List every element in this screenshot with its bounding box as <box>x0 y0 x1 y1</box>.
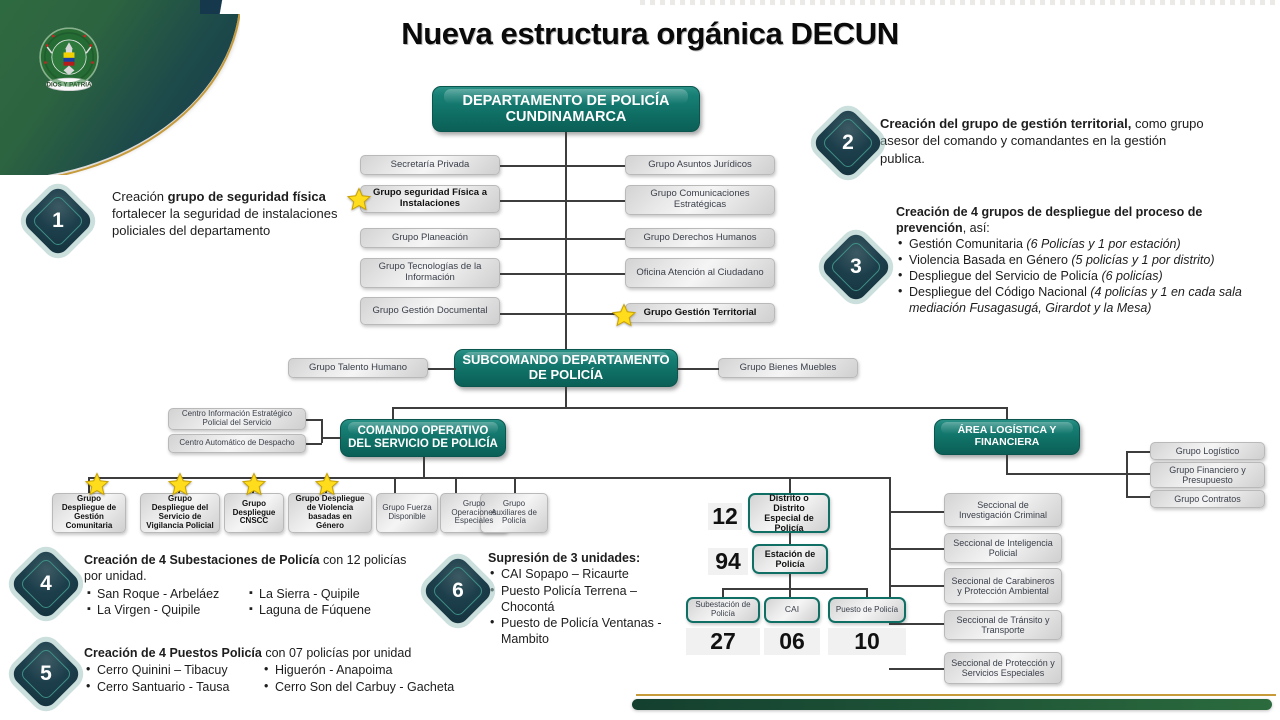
org-node-grupo-auxiliares-policia[interactable]: Grupo Auxiliares de Policía <box>480 493 548 533</box>
org-node-distrito-especial-policia[interactable]: Distrito o Distrito Especial de Policía <box>748 493 830 533</box>
org-node-oficina-atencion-ciudadano[interactable]: Oficina Atención al Ciudadano <box>625 258 775 288</box>
list-item: Cerro Quinini – Tibacuy <box>84 662 254 678</box>
connector-staff-1 <box>500 165 625 167</box>
top-dotted-rule <box>640 0 1280 5</box>
connector-estacion-down <box>789 574 791 589</box>
org-node-seccional-investigacion-criminal[interactable]: Seccional de Investigación Criminal <box>944 493 1062 527</box>
org-node-grupo-bienes-muebles[interactable]: Grupo Bienes Muebles <box>718 358 858 378</box>
header-corner-notch <box>200 0 260 14</box>
connector-distrito-estacion <box>789 533 791 544</box>
connector-subcomando-down <box>565 387 567 408</box>
connector-staff-5 <box>500 313 625 315</box>
count-estacion: 94 <box>708 548 748 575</box>
org-node-centro-informacion-estrategico[interactable]: Centro Información Estratégico Policial … <box>168 408 306 430</box>
star-icon-vigilancia-policial <box>167 472 193 497</box>
callout-text-3: Creación de 4 grupos de despliegue del p… <box>896 204 1262 316</box>
org-node-grupo-talento-humano[interactable]: Grupo Talento Humano <box>288 358 428 378</box>
callout-text-6: Supresión de 3 unidades: CAI Sopapo – Ri… <box>488 550 678 648</box>
connector-subcomando-right <box>677 368 719 370</box>
connector-seccional-2 <box>889 548 945 550</box>
callout-5-list-col2: Higuerón - Anapoima Cerro Son del Carbuy… <box>262 662 492 695</box>
org-node-grupo-despliegue-violencia-genero[interactable]: Grupo Despliegue de Violencia basadas en… <box>288 493 372 533</box>
callout-number-2: 2 <box>822 117 874 169</box>
org-node-grupo-asuntos-juridicos[interactable]: Grupo Asuntos Jurídicos <box>625 155 775 175</box>
connector-drop-distrito <box>789 477 791 493</box>
star-icon-gestion-territorial <box>611 303 637 328</box>
star-icon-cnscc <box>241 472 267 497</box>
connector-seccional-1 <box>889 511 945 513</box>
org-node-cai[interactable]: CAI <box>764 597 820 623</box>
callout-number-6: 6 <box>432 565 484 617</box>
org-node-area-logistica-financiera[interactable]: ÁREA LOGÍSTICA Y FINANCIERA <box>934 419 1080 455</box>
callout-5-list-col1: Cerro Quinini – Tibacuy Cerro Santuario … <box>84 662 254 695</box>
list-item: CAI Sopapo – Ricaurte <box>488 566 678 582</box>
connector-level3-bus <box>392 407 1007 409</box>
org-node-grupo-despliegue-vigilancia-policial[interactable]: Grupo Despliegue del Servicio de Vigilan… <box>140 493 220 533</box>
connector-centro-1 <box>306 419 322 421</box>
connector-seccional-4 <box>889 623 945 625</box>
connector-drop-seccionales <box>889 477 891 611</box>
connector-area-to-logistic <box>1006 473 1127 475</box>
connector-to-area-logistica <box>1006 407 1008 419</box>
star-icon-seguridad-fisica <box>346 187 372 212</box>
org-node-seccional-proteccion-servicios-especiales[interactable]: Seccional de Protección y Servicios Espe… <box>944 652 1062 684</box>
org-node-subcomando-departamento-policia[interactable]: SUBCOMANDO DEPARTAMENTO DE POLICÍA <box>454 349 678 387</box>
org-node-grupo-tecnologias-informacion[interactable]: Grupo Tecnologías de la Información <box>360 258 500 288</box>
callout-4-list-col2: La Sierra - Quipile Laguna de Fúquene <box>246 586 396 619</box>
connector-logistic-3 <box>1126 496 1151 498</box>
list-item: Puesto de Policía Ventanas - Mambito <box>488 615 678 648</box>
org-node-estacion-policia[interactable]: Estación de Policía <box>752 544 828 574</box>
callout-marker-1[interactable]: 1 <box>32 195 84 247</box>
org-node-seccional-transito-transporte[interactable]: Seccional de Tránsito y Transporte <box>944 610 1062 640</box>
connector-centro-2 <box>306 443 322 445</box>
connector-area-down <box>1006 455 1008 474</box>
callout-marker-5[interactable]: 5 <box>20 648 72 700</box>
list-item: Despliegue del Código Nacional (4 policí… <box>896 284 1262 316</box>
org-node-grupo-fuerza-disponible[interactable]: Grupo Fuerza Disponible <box>376 493 438 533</box>
org-node-grupo-logistico[interactable]: Grupo Logístico <box>1150 442 1265 460</box>
org-node-seccional-inteligencia-policial[interactable]: Seccional de Inteligencia Policial <box>944 533 1062 563</box>
policia-nacional-emblem-icon: DIOS Y PATRIA <box>30 22 108 100</box>
list-item: Puesto Policía Terrena – Chocontá <box>488 583 678 616</box>
org-node-grupo-seguridad-fisica[interactable]: Grupo seguridad Física a Instalaciones <box>360 185 500 213</box>
list-item: San Roque - Arbeláez <box>84 586 234 602</box>
callout-number-3: 3 <box>830 241 882 293</box>
list-item: La Virgen - Quipile <box>84 602 234 618</box>
connector-staff-4 <box>500 273 625 275</box>
slide-canvas: DIOS Y PATRIA Nueva estructura orgánica … <box>0 0 1280 720</box>
page-title: Nueva estructura orgánica DECUN <box>300 16 1000 52</box>
callout-marker-3[interactable]: 3 <box>830 241 882 293</box>
connector-operative-groups-bus <box>88 477 889 479</box>
count-subestacion: 27 <box>686 628 760 655</box>
connector-seccional-5 <box>889 668 945 670</box>
callout-text-5: Creación de 4 Puestos Policía con 07 pol… <box>84 645 504 695</box>
connector-centro-spine <box>321 419 323 443</box>
callout-text-4: Creación de 4 Subestaciones de Policía c… <box>84 552 424 618</box>
connector-centro-to-comando <box>321 437 341 439</box>
callout-text-1: Creación grupo de seguridad física forta… <box>112 188 340 239</box>
org-node-departamento-policia-cundinamarca[interactable]: DEPARTAMENTO DE POLICÍA CUNDINAMARCA <box>432 86 700 132</box>
org-node-puesto-policia[interactable]: Puesto de Policía <box>828 597 906 623</box>
bottom-gold-rule <box>636 694 1276 696</box>
list-item: Violencia Basada en Género (5 policías y… <box>896 252 1262 268</box>
count-cai: 06 <box>764 628 820 655</box>
callout-4-list-col1: San Roque - Arbeláez La Virgen - Quipile <box>84 586 234 619</box>
org-node-subestacion-policia[interactable]: Subestación de Policía <box>686 597 760 623</box>
list-item: Despliegue del Servicio de Policía (6 po… <box>896 268 1262 284</box>
org-node-grupo-financiero-presupuesto[interactable]: Grupo Financiero y Presupuesto <box>1150 462 1265 488</box>
bottom-green-bar <box>632 699 1272 710</box>
callout-text-2: Creación del grupo de gestión territoria… <box>880 115 1210 167</box>
org-node-secretaria-privada[interactable]: Secretaría Privada <box>360 155 500 175</box>
org-node-grupo-derechos-humanos[interactable]: Grupo Derechos Humanos <box>625 228 775 248</box>
count-distrito: 12 <box>708 503 742 530</box>
org-node-grupo-despliegue-gestion-comunitaria[interactable]: Grupo Despliegue de Gestión Comunitaria <box>52 493 126 533</box>
list-item: Cerro Santuario - Tausa <box>84 679 254 695</box>
list-item: Gestión Comunitaria (6 Policías y 1 por … <box>896 236 1262 252</box>
callout-marker-6[interactable]: 6 <box>432 565 484 617</box>
star-icon-gestion-comunitaria <box>84 472 110 497</box>
connector-units-bus <box>722 588 867 590</box>
org-node-seccional-carabineros-proteccion-ambiental[interactable]: Seccional de Carabineros y Protección Am… <box>944 568 1062 604</box>
org-node-centro-automatico-despacho[interactable]: Centro Automático de Despacho <box>168 434 306 453</box>
org-node-grupo-comunicaciones-estrategicas[interactable]: Grupo Comunicaciones Estratégicas <box>625 185 775 215</box>
connector-logistic-2 <box>1126 473 1151 475</box>
callout-marker-2[interactable]: 2 <box>822 117 874 169</box>
org-node-grupo-contratos[interactable]: Grupo Contratos <box>1150 490 1265 508</box>
connector-seccional-3 <box>889 585 945 587</box>
connector-comando-down <box>423 457 425 478</box>
list-item: Higuerón - Anapoima <box>262 662 492 678</box>
callout-3-list: Gestión Comunitaria (6 Policías y 1 por … <box>896 236 1262 316</box>
connector-staff-3 <box>500 238 625 240</box>
count-puesto: 10 <box>828 628 906 655</box>
list-item: Laguna de Fúquene <box>246 602 396 618</box>
list-item: La Sierra - Quipile <box>246 586 396 602</box>
callout-number-1: 1 <box>32 195 84 247</box>
star-icon-violencia-genero <box>314 472 340 497</box>
connector-staff-2 <box>500 200 625 202</box>
org-node-grupo-gestion-territorial[interactable]: Grupo Gestión Territorial <box>625 303 775 323</box>
org-node-grupo-despliegue-cnscc[interactable]: Grupo Despliegue CNSCC <box>224 493 284 533</box>
connector-subcomando-left <box>428 368 456 370</box>
callout-number-4: 4 <box>20 558 72 610</box>
callout-number-5: 5 <box>20 648 72 700</box>
org-node-grupo-gestion-documental[interactable]: Grupo Gestión Documental <box>360 297 500 325</box>
org-node-grupo-planeacion[interactable]: Grupo Planeación <box>360 228 500 248</box>
connector-logistic-1 <box>1126 451 1151 453</box>
list-item: Cerro Son del Carbuy - Gacheta <box>262 679 492 695</box>
callout-marker-4[interactable]: 4 <box>20 558 72 610</box>
org-node-comando-operativo-servicio-policia[interactable]: COMANDO OPERATIVO DEL SERVICIO DE POLICÍ… <box>340 419 506 457</box>
callout-6-list: CAI Sopapo – Ricaurte Puesto Policía Ter… <box>488 566 678 647</box>
